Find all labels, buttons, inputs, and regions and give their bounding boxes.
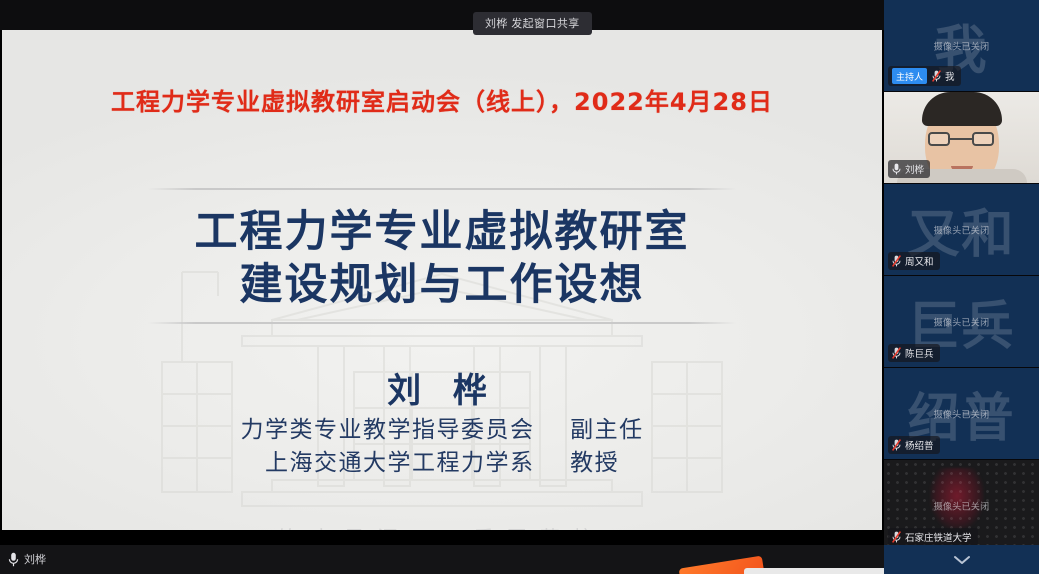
affiliation-line-2: 上海交通大学工程力学系 教授 xyxy=(2,447,882,480)
participant-name-label: 陈巨兵 xyxy=(905,346,934,360)
microphone-muted-icon[interactable] xyxy=(892,255,901,267)
camera-off-label: 摄像头已关闭 xyxy=(884,315,1039,328)
presentation-slide: 工程力学专业虚拟教研室启动会（线上），2022年4月28日 工程力学专业虚拟教研… xyxy=(2,30,882,530)
camera-off-label: 摄像头已关闭 xyxy=(884,499,1039,512)
participant-name-chip: 主持人 我 xyxy=(888,66,961,86)
affiliation-role-1: 副主任 xyxy=(570,417,644,443)
affiliation-org-1: 力学类专业教学指导委员会 xyxy=(240,417,534,443)
microphone-muted-icon[interactable] xyxy=(892,531,901,543)
participant-tile[interactable]: 绍普 摄像头已关闭 杨绍普 xyxy=(884,368,1039,460)
chevron-down-icon xyxy=(953,555,971,565)
self-name-chip: 刘桦 xyxy=(8,551,46,567)
participant-name-label: 杨绍普 xyxy=(905,438,934,452)
camera-off-label: 摄像头已关闭 xyxy=(884,39,1039,52)
screen-share-banner: 刘桦 发起窗口共享 xyxy=(473,12,592,35)
university-motto-watermark: 饮水思源 • 爱国荣校 xyxy=(2,522,882,530)
microphone-muted-icon[interactable] xyxy=(892,347,901,359)
affiliation-line-1: 力学类专业教学指导委员会 副主任 xyxy=(2,414,882,447)
sidebar-scroll-down-button[interactable] xyxy=(884,545,1039,574)
slide-title-line-2: 建设规划与工作设想 xyxy=(2,259,882,312)
affiliation-org-2: 上海交通大学工程力学系 xyxy=(265,450,535,476)
self-name-label: 刘桦 xyxy=(24,551,46,567)
participant-tile[interactable]: 巨兵 摄像头已关闭 陈巨兵 xyxy=(884,276,1039,368)
participant-name-chip: 石家庄铁道大学 xyxy=(888,528,978,546)
participant-name-label: 我 xyxy=(945,69,955,83)
microphone-muted-icon[interactable] xyxy=(932,70,941,82)
participant-tile[interactable]: 摄像头已关闭 石家庄铁道大学 xyxy=(884,460,1039,552)
microphone-muted-icon[interactable] xyxy=(892,439,901,451)
participant-name-label: 石家庄铁道大学 xyxy=(905,530,972,544)
microphone-icon[interactable] xyxy=(892,163,901,175)
meeting-bottom-bar: 刘桦 xyxy=(0,545,884,574)
shared-screen-stage[interactable]: 工程力学专业虚拟教研室启动会（线上），2022年4月28日 工程力学专业虚拟教研… xyxy=(0,30,884,545)
slide-divider-bottom xyxy=(148,322,736,324)
participant-tile[interactable]: 我 摄像头已关闭 主持人 我 xyxy=(884,0,1039,92)
share-banner-label: 刘桦 发起窗口共享 xyxy=(485,18,580,30)
microphone-icon[interactable] xyxy=(8,552,19,567)
participant-name-label: 刘桦 xyxy=(905,162,924,176)
participant-tile[interactable]: 又和 摄像头已关闭 周又和 xyxy=(884,184,1039,276)
participant-sidebar: 我 摄像头已关闭 主持人 我 xyxy=(884,0,1039,574)
slide-title-line-1: 工程力学专业虚拟教研室 xyxy=(2,206,882,259)
affiliation-role-2: 教授 xyxy=(570,450,619,476)
participant-name-chip: 陈巨兵 xyxy=(888,344,940,362)
slide-event-header: 工程力学专业虚拟教研室启动会（线上），2022年4月28日 xyxy=(2,82,882,117)
slide-main-title: 工程力学专业虚拟教研室 建设规划与工作设想 xyxy=(2,206,882,312)
camera-off-label: 摄像头已关闭 xyxy=(884,223,1039,236)
camera-off-label: 摄像头已关闭 xyxy=(884,407,1039,420)
participant-tile[interactable]: 刘桦 xyxy=(884,92,1039,184)
participant-name-chip: 周又和 xyxy=(888,252,940,270)
participant-name-chip: 杨绍普 xyxy=(888,436,940,454)
participant-name-label: 周又和 xyxy=(905,254,934,268)
window-edge-peek xyxy=(744,568,894,574)
meeting-window: 刘桦 发起窗口共享 xyxy=(0,0,1039,574)
participant-name-chip: 刘桦 xyxy=(888,160,930,178)
slide-speaker-affiliation: 力学类专业教学指导委员会 副主任 上海交通大学工程力学系 教授 xyxy=(2,414,882,479)
slide-divider-top xyxy=(148,188,736,190)
host-badge: 主持人 xyxy=(892,68,927,84)
slide-speaker-name: 刘 桦 xyxy=(2,363,882,412)
